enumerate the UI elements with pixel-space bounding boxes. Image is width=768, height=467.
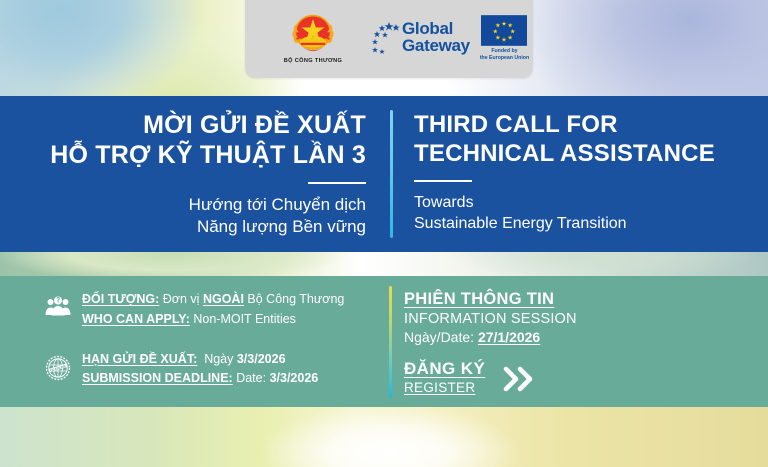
submission-deadline-vn-value-pre: Ngày bbox=[204, 352, 233, 366]
session-date-row: Ngày/Date: 27/1/2026 bbox=[404, 329, 590, 345]
global-gateway-logo: Global Gateway bbox=[371, 15, 529, 61]
register-label-vn[interactable]: ĐĂNG KÝ bbox=[404, 359, 485, 379]
logo-panel: BỘ CÔNG THƯƠNG Glob bbox=[245, 0, 533, 78]
submission-deadline-vn-value: 3/3/2026 bbox=[237, 352, 286, 366]
headline-en-sub-line-2: Sustainable Energy Transition bbox=[414, 213, 627, 235]
who-can-apply-vn-value-strong: NGOÀI bbox=[203, 292, 244, 306]
eligibility-and-deadline-block: ĐỐI TƯỢNG: Đơn vị NGOÀI Bộ Công Thương W… bbox=[0, 276, 389, 407]
green-transition-strip bbox=[0, 252, 768, 276]
info-band: ĐỐI TƯỢNG: Đơn vị NGOÀI Bộ Công Thương W… bbox=[0, 276, 768, 407]
who-can-apply-row: ĐỐI TƯỢNG: Đơn vị NGOÀI Bộ Công Thương W… bbox=[38, 290, 389, 330]
headline-en-line-1: THIRD CALL FOR bbox=[414, 110, 618, 139]
register-label-en[interactable]: REGISTER bbox=[404, 380, 485, 395]
submission-deadline-vn-label: HẠN GỬI ĐỀ XUẤT: bbox=[82, 352, 197, 366]
who-can-apply-en-label: WHO CAN APPLY: bbox=[82, 312, 190, 326]
session-date-value: 27/1/2026 bbox=[478, 329, 540, 345]
headline-en-line-2: TECHNICAL ASSISTANCE bbox=[414, 139, 715, 168]
people-question-icon bbox=[45, 295, 71, 317]
information-session-block: PHIÊN THÔNG TIN INFORMATION SESSION Ngày… bbox=[404, 276, 590, 407]
vietnam-national-emblem-icon bbox=[291, 13, 335, 55]
info-vertical-divider bbox=[389, 286, 392, 398]
headline-vn-sub-line-2: Năng lượng Bền vững bbox=[197, 216, 366, 239]
eu-flag-icon bbox=[481, 15, 527, 46]
session-title-en: INFORMATION SESSION bbox=[404, 311, 590, 327]
headline-en-divider bbox=[414, 180, 472, 182]
headline-vn-sub-line-1: Hướng tới Chuyển dịch bbox=[189, 194, 366, 217]
deadline-stamp-icon: DEADLINE bbox=[45, 355, 71, 381]
global-gateway-stars-icon bbox=[371, 21, 401, 55]
who-can-apply-vn: ĐỐI TƯỢNG: Đơn vị NGOÀI Bộ Công Thương bbox=[82, 290, 344, 310]
headline-vietnamese: MỜI GỬI ĐỀ XUẤT HỖ TRỢ KỸ THUẬT LẦN 3 Hư… bbox=[0, 96, 390, 252]
who-can-apply-vn-value-pre: Đơn vị bbox=[163, 292, 200, 306]
who-can-apply-vn-label: ĐỐI TƯỢNG: bbox=[82, 292, 159, 306]
headline-vertical-divider bbox=[390, 110, 393, 238]
poster-root: BỘ CÔNG THƯƠNG Glob bbox=[0, 0, 768, 467]
headline-band: MỜI GỬI ĐỀ XUẤT HỖ TRỢ KỸ THUẬT LẦN 3 Hư… bbox=[0, 96, 768, 252]
register-cta[interactable]: ĐĂNG KÝ REGISTER bbox=[404, 359, 590, 395]
who-can-apply-vn-value-post: Bộ Công Thương bbox=[247, 292, 344, 306]
session-title-vn: PHIÊN THÔNG TIN bbox=[404, 290, 590, 309]
submission-deadline-en: SUBMISSION DEADLINE: Date: 3/3/2026 bbox=[82, 369, 318, 389]
submission-deadline-vn: HẠN GỬI ĐỀ XUẤT: Ngày 3/3/2026 bbox=[82, 350, 318, 370]
global-gateway-word-bottom: Gateway bbox=[402, 38, 470, 55]
who-can-apply-en: WHO CAN APPLY: Non-MOIT Entities bbox=[82, 310, 344, 330]
who-can-apply-en-value: Non-MOIT Entities bbox=[193, 312, 296, 326]
eu-funding-caption: Funded by the European Union bbox=[480, 48, 529, 61]
headline-vn-line-2: HỖ TRỢ KỸ THUẬT LẦN 3 bbox=[50, 140, 366, 170]
eu-caption-line-2: the European Union bbox=[480, 55, 529, 62]
submission-deadline-en-value-pre: Date: bbox=[236, 371, 266, 385]
global-gateway-wordmark: Global Gateway bbox=[402, 21, 470, 54]
headline-english: THIRD CALL FOR TECHNICAL ASSISTANCE Towa… bbox=[390, 96, 768, 252]
headline-en-sub-line-1: Towards bbox=[414, 192, 474, 214]
moit-logo: BỘ CÔNG THƯƠNG bbox=[261, 13, 365, 64]
headline-vn-line-1: MỜI GỬI ĐỀ XUẤT bbox=[143, 110, 366, 140]
moit-caption: BỘ CÔNG THƯƠNG bbox=[284, 58, 342, 64]
eu-funding-logo: Funded by the European Union bbox=[480, 15, 529, 61]
headline-vn-divider bbox=[308, 182, 366, 184]
bottom-gradient-background bbox=[0, 407, 768, 467]
submission-deadline-row: DEADLINE HẠN GỬI ĐỀ XUẤT: Ngày 3/3/2026 … bbox=[38, 350, 389, 390]
submission-deadline-en-value: 3/3/2026 bbox=[270, 371, 319, 385]
session-date-label: Ngày/Date: bbox=[404, 329, 474, 345]
submission-deadline-en-label: SUBMISSION DEADLINE: bbox=[82, 371, 233, 385]
double-chevron-right-icon[interactable] bbox=[503, 366, 537, 392]
